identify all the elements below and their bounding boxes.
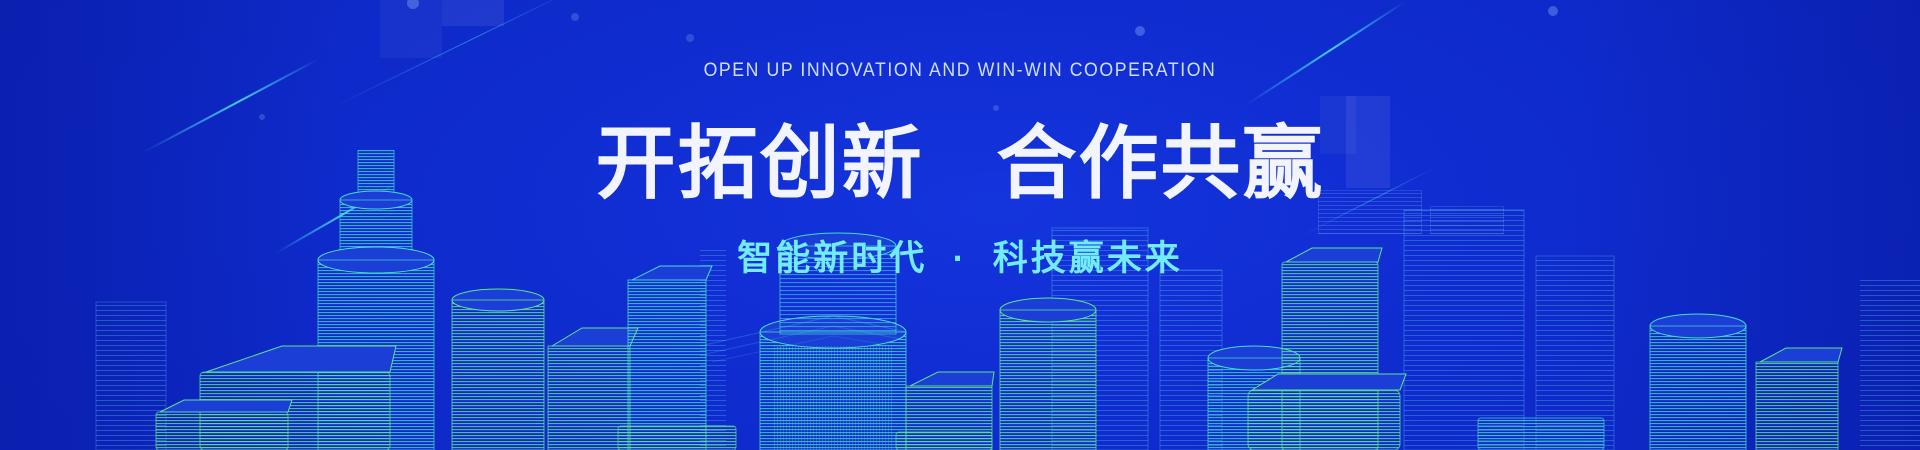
decor-square — [442, 0, 504, 26]
decor-dot — [259, 114, 265, 120]
tower-slim-pair — [780, 233, 896, 334]
tower-right-cylinder — [1000, 298, 1096, 450]
tower-front-mid-block — [618, 426, 736, 450]
tower-front-far-right-block — [1478, 418, 1604, 450]
decor-dot — [1135, 26, 1145, 36]
tower-farright-cylinder — [1650, 314, 1746, 450]
tower-front-right-block — [896, 432, 992, 450]
tower-teal-slab — [628, 266, 712, 450]
decor-dot — [571, 13, 579, 21]
tower-green-cylinder — [452, 289, 544, 450]
decor-dot — [686, 34, 694, 42]
tower-farright-block — [1756, 348, 1842, 450]
decor-dot — [993, 105, 999, 111]
wireframe-city-skyline — [0, 150, 1920, 450]
tower-right-wide-block — [1248, 374, 1406, 450]
decor-dot — [1548, 6, 1558, 16]
hero-banner: OPEN UP INNOVATION AND WIN-WIN COOPERATI… — [0, 0, 1920, 450]
tower-front-left-block — [156, 400, 292, 450]
